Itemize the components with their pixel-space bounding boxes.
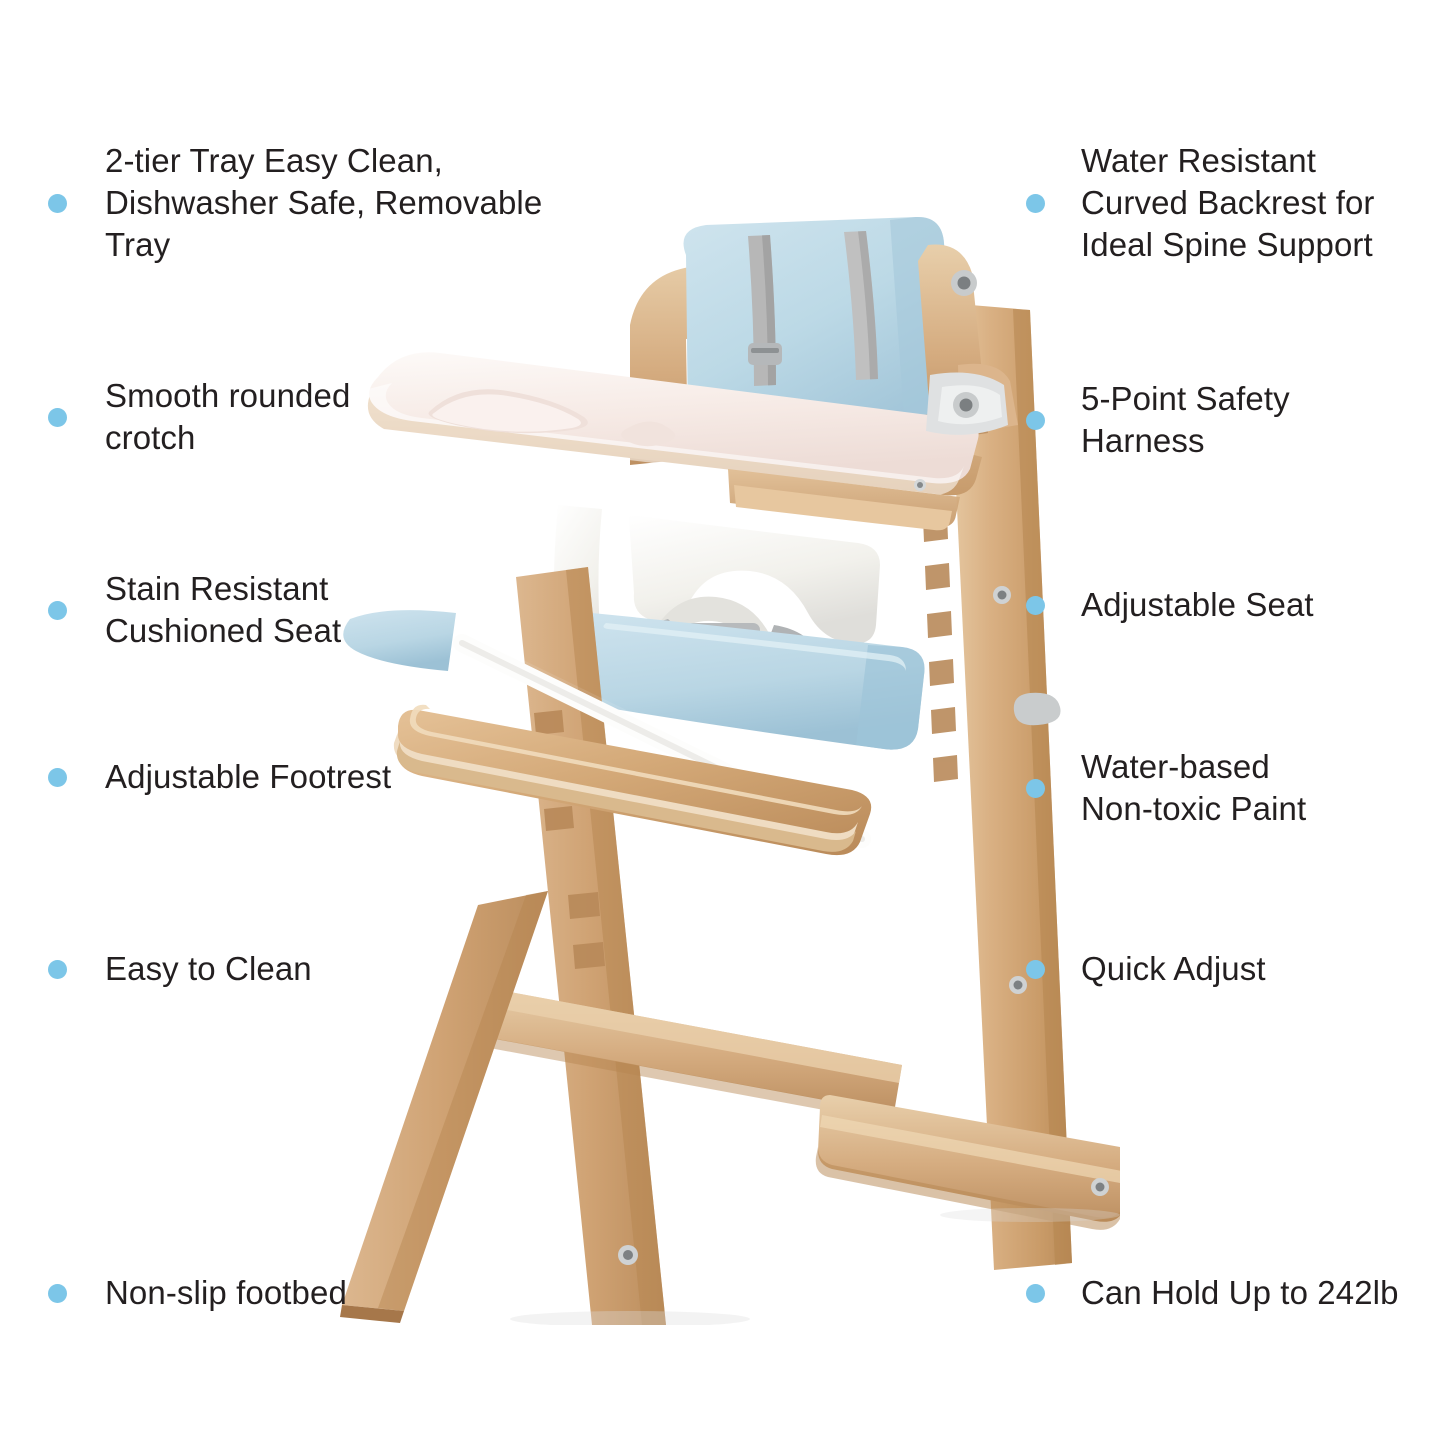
bullet-icon	[1026, 960, 1045, 979]
feature-two-tier-tray: 2-tier Tray Easy Clean, Dishwasher Safe,…	[48, 140, 588, 267]
feature-label: Non-slip footbed	[105, 1272, 347, 1314]
feature-label: 5-Point Safety Harness	[1081, 378, 1290, 462]
feature-weight-capacity: Can Hold Up to 242lb	[1026, 1272, 1426, 1314]
feature-label: Adjustable Seat	[1081, 584, 1314, 626]
feature-label: Smooth rounded crotch	[105, 375, 350, 459]
frame-screws	[618, 1245, 638, 1265]
bullet-icon	[1026, 779, 1045, 798]
feature-smooth-rounded-crotch: Smooth rounded crotch	[48, 375, 468, 459]
feature-stain-resistant-seat: Stain Resistant Cushioned Seat	[48, 568, 468, 652]
bullet-icon	[48, 194, 67, 213]
bullet-icon	[1026, 194, 1045, 213]
bullet-icon	[1026, 1284, 1045, 1303]
feature-label: Water Resistant Curved Backrest for Idea…	[1081, 140, 1375, 267]
feature-label: Stain Resistant Cushioned Seat	[105, 568, 341, 652]
quick-adjust-tab	[1014, 693, 1061, 725]
feature-label: Water-based Non-toxic Paint	[1081, 746, 1306, 830]
feature-label: Easy to Clean	[105, 948, 312, 990]
feature-easy-to-clean: Easy to Clean	[48, 948, 448, 990]
bullet-icon	[1026, 411, 1045, 430]
bullet-icon	[48, 601, 67, 620]
feature-label: Quick Adjust	[1081, 948, 1266, 990]
feature-adjustable-footrest: Adjustable Footrest	[48, 756, 478, 798]
bullet-icon	[48, 408, 67, 427]
bullet-icon	[48, 960, 67, 979]
feature-non-slip-footbed: Non-slip footbed	[48, 1272, 468, 1314]
feature-water-resistant-backrest: Water Resistant Curved Backrest for Idea…	[1026, 140, 1426, 267]
feature-label: 2-tier Tray Easy Clean, Dishwasher Safe,…	[105, 140, 542, 267]
feature-five-point-harness: 5-Point Safety Harness	[1026, 378, 1416, 462]
bullet-icon	[48, 768, 67, 787]
feature-water-based-paint: Water-based Non-toxic Paint	[1026, 746, 1416, 830]
infographic-page: 2-tier Tray Easy Clean, Dishwasher Safe,…	[0, 0, 1445, 1445]
bullet-icon	[1026, 596, 1045, 615]
feature-quick-adjust: Quick Adjust	[1026, 948, 1416, 990]
feature-adjustable-seat: Adjustable Seat	[1026, 584, 1416, 626]
feature-label: Adjustable Footrest	[105, 756, 391, 798]
feature-label: Can Hold Up to 242lb	[1081, 1272, 1399, 1314]
bullet-icon	[48, 1284, 67, 1303]
